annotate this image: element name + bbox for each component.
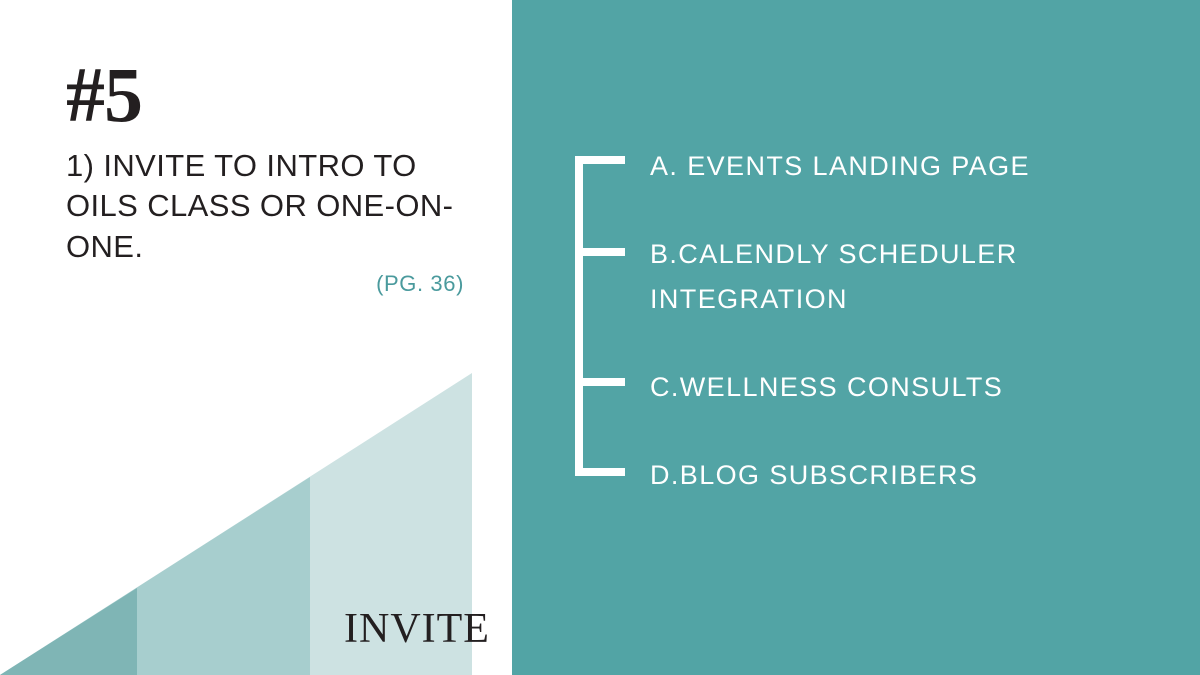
- bracket-tick-c: [575, 378, 625, 386]
- bracket-tick-b: [575, 248, 625, 256]
- diagonal-band-dark: [0, 588, 137, 675]
- invite-wordmark: INVITE: [344, 605, 490, 653]
- list-items: A. EVENTS LANDING PAGE B.CALENDLY SCHEDU…: [650, 0, 1190, 675]
- slide-number: #5: [66, 58, 486, 132]
- list-item-b: B.CALENDLY SCHEDULER INTEGRATION: [650, 232, 1018, 322]
- page-reference: (PG. 36): [66, 271, 486, 297]
- bracket-tick-d: [575, 468, 625, 476]
- list-item-d: D.BLOG SUBSCRIBERS: [650, 453, 978, 498]
- page-title: 1) INVITE TO INTRO TO OILS CLASS OR ONE-…: [66, 146, 486, 267]
- bracket-icon: [575, 156, 637, 476]
- diagonal-band-mid: [0, 477, 310, 675]
- right-panel: A. EVENTS LANDING PAGE B.CALENDLY SCHEDU…: [512, 0, 1200, 675]
- list-item-c: C.WELLNESS CONSULTS: [650, 365, 1003, 410]
- headline-block: #5 1) INVITE TO INTRO TO OILS CLASS OR O…: [66, 58, 486, 297]
- bracket-spine: [575, 156, 583, 476]
- left-panel: #5 1) INVITE TO INTRO TO OILS CLASS OR O…: [0, 0, 512, 675]
- slide-canvas: #5 1) INVITE TO INTRO TO OILS CLASS OR O…: [0, 0, 1200, 675]
- bracket-tick-a: [575, 156, 625, 164]
- list-item-a: A. EVENTS LANDING PAGE: [650, 144, 1030, 189]
